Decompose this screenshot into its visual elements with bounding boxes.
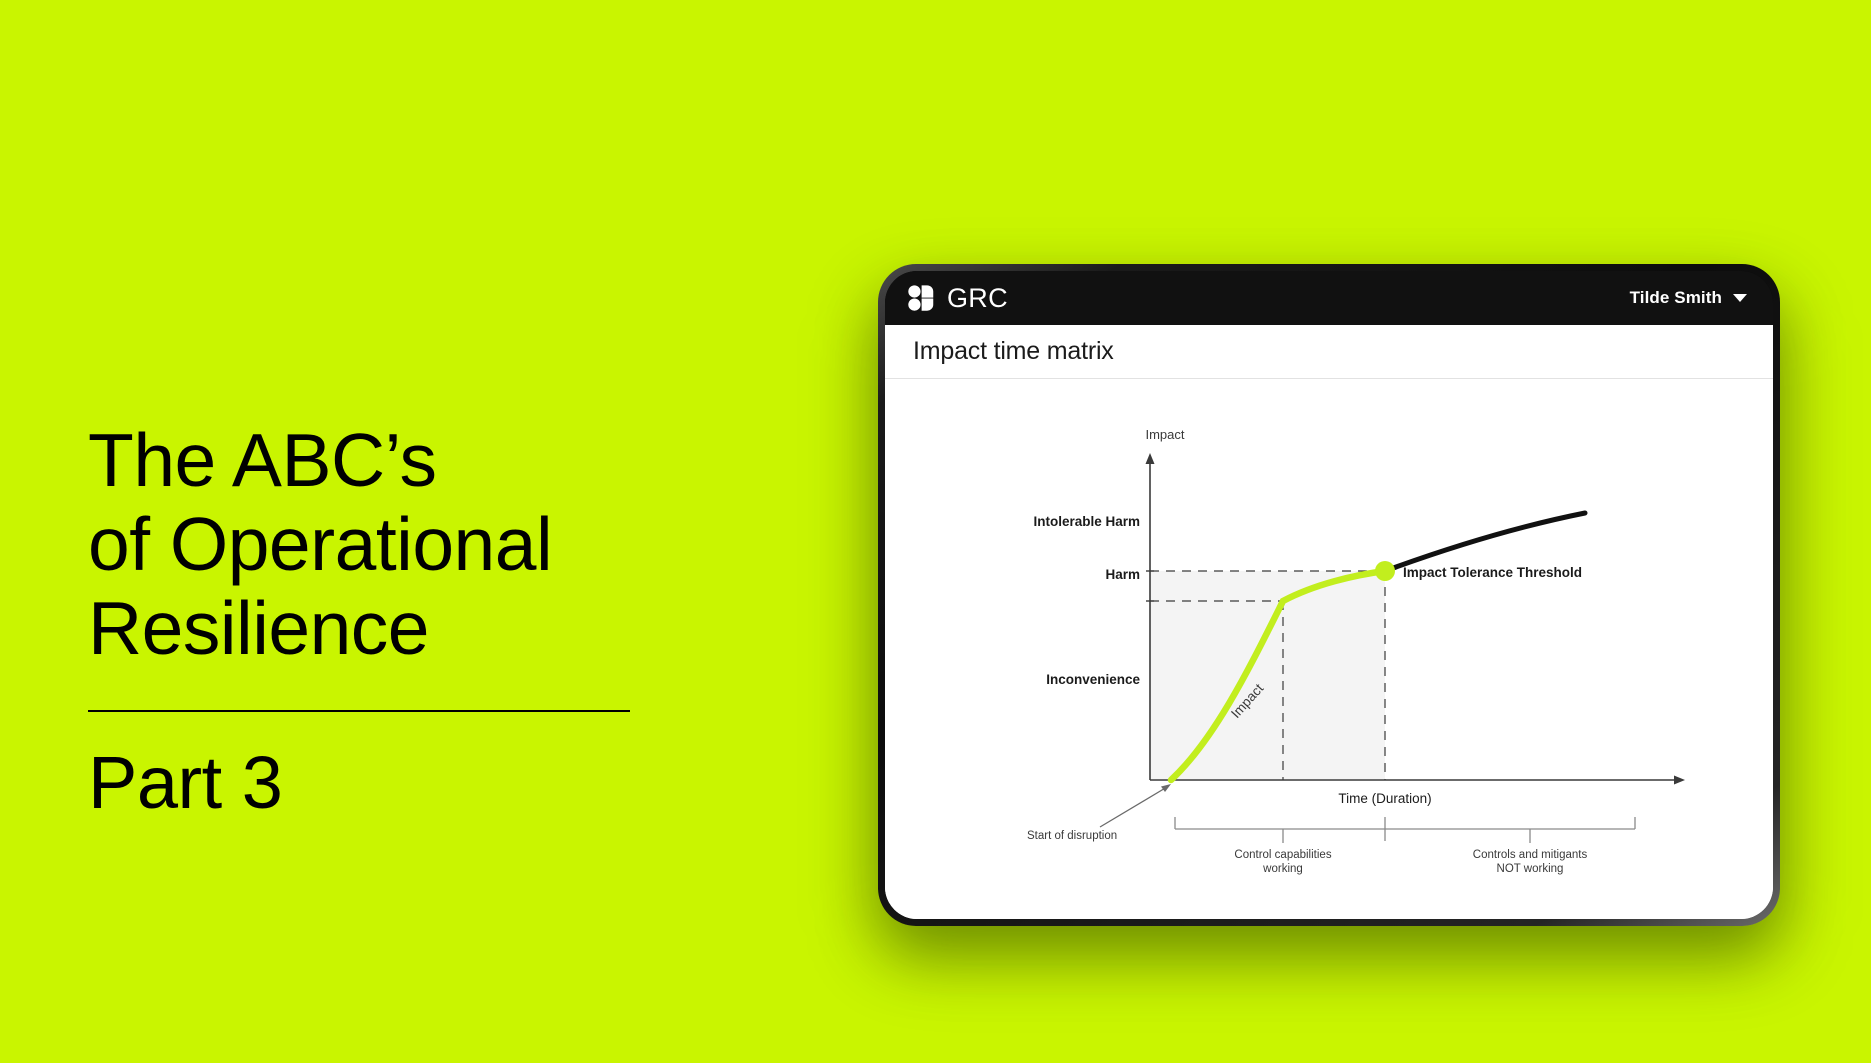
start-of-disruption-arrow-icon — [1161, 784, 1171, 792]
chart-container: Impact Intolerable Harm Harm Inconvenien… — [885, 379, 1773, 919]
bracket-label-control-working-line1: Control capabilities — [1234, 849, 1331, 861]
page-header: Impact time matrix — [885, 325, 1773, 379]
brand-name: GRC — [947, 285, 1008, 312]
hero-divider — [88, 710, 630, 712]
series-beyond-tolerance-curve — [1385, 513, 1585, 571]
page-title: The ABC’s of Operational Resilience — [88, 418, 788, 670]
user-name: Tilde Smith — [1630, 288, 1722, 308]
impact-time-matrix-chart: Impact Intolerable Harm Harm Inconvenien… — [885, 379, 1773, 919]
chevron-down-icon — [1733, 294, 1747, 302]
start-of-disruption-leader — [1100, 787, 1167, 827]
impact-tolerance-threshold-label: Impact Tolerance Threshold — [1403, 565, 1582, 580]
hero-section: The ABC’s of Operational Resilience Part… — [88, 418, 788, 820]
impact-band-shading — [1150, 571, 1385, 779]
brand[interactable]: GRC — [907, 284, 1008, 312]
app-page: Impact time matrix Impact Intolerable Ha… — [885, 325, 1773, 919]
app-top-bar: GRC Tilde Smith — [885, 271, 1773, 325]
y-axis-title: Impact — [1145, 427, 1184, 442]
hero-part-label: Part 3 — [88, 746, 788, 820]
user-menu[interactable]: Tilde Smith — [1630, 288, 1747, 308]
tablet-device: GRC Tilde Smith Impact time matrix Impac… — [878, 264, 1780, 926]
bracket-label-control-working-line2: working — [1262, 863, 1303, 875]
page-heading: Impact time matrix — [913, 337, 1114, 366]
tablet-screen: GRC Tilde Smith Impact time matrix Impac… — [885, 271, 1773, 919]
annotation-start-of-disruption: Start of disruption — [1027, 830, 1117, 842]
y-tick-label-inconvenience: Inconvenience — [1046, 672, 1140, 687]
bracket-label-not-working-line2: NOT working — [1497, 863, 1564, 875]
x-axis-title: Time (Duration) — [1338, 791, 1431, 806]
x-axis-arrow-icon — [1674, 776, 1685, 785]
bracket-label-not-working-line1: Controls and mitigants — [1473, 849, 1588, 861]
y-tick-label-intolerable-harm: Intolerable Harm — [1033, 514, 1140, 529]
grc-logo-icon — [907, 284, 935, 312]
y-tick-label-harm: Harm — [1105, 567, 1140, 582]
y-axis-arrow-icon — [1146, 453, 1155, 464]
impact-tolerance-threshold-marker[interactable] — [1375, 561, 1395, 581]
